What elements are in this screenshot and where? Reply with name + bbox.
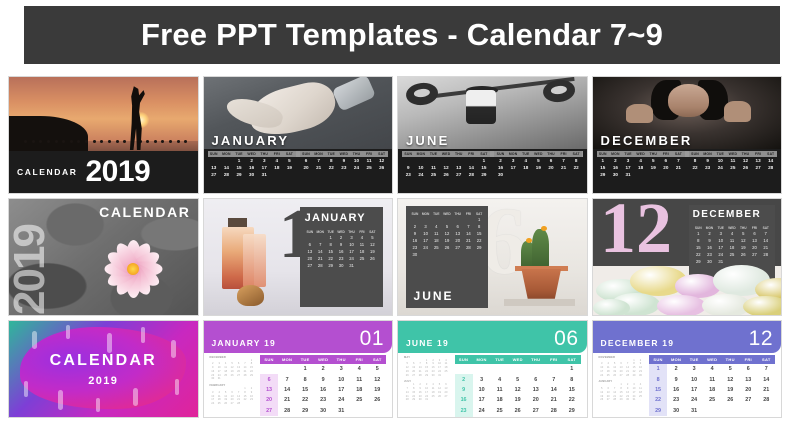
day-cell: 6 xyxy=(527,374,545,384)
day-cell: 4 xyxy=(491,374,509,384)
day-cell: 20 xyxy=(305,255,315,262)
day-cell: 13 xyxy=(739,374,757,384)
dual-day-grid: 12345131415161718192728293031 6789101112… xyxy=(208,157,389,179)
dow-cell: WED xyxy=(509,355,527,364)
day-cell: 8 xyxy=(296,374,314,384)
day-cell: 31 xyxy=(685,405,703,415)
ref-day-cell: 25 xyxy=(637,395,643,399)
day-cell: 4 xyxy=(519,157,532,164)
day-cell: 7 xyxy=(760,230,771,237)
day-cell: 21 xyxy=(545,395,563,405)
day-cell: 7 xyxy=(557,157,570,164)
day-cell: 9 xyxy=(704,237,715,244)
day-cell: 17 xyxy=(685,385,703,395)
template-card-december-portrait[interactable]: DECEMBER SUNMONTUEWEDTHUFRISAT SUNMONTUE… xyxy=(592,76,783,194)
day-cell-empty xyxy=(442,216,453,223)
day-cell: 11 xyxy=(431,230,442,237)
dow-cell: TUE xyxy=(296,355,314,364)
day-cell: 8 xyxy=(570,157,583,164)
dow-cell: WED xyxy=(314,355,332,364)
day-cell: 4 xyxy=(271,157,284,164)
day-cell: 3 xyxy=(473,374,491,384)
day-cell: 7 xyxy=(757,364,775,374)
day-cell: 23 xyxy=(701,164,714,171)
day-cell: 30 xyxy=(314,405,332,415)
day-cell: 17 xyxy=(473,395,491,405)
header-banner: Free PPT Templates - Calendar 7~9 xyxy=(24,6,780,64)
reference-months: DECEMBER12345678910111213141516171819202… xyxy=(210,356,255,409)
day-cell: 7 xyxy=(315,241,325,248)
dow-cell: THU xyxy=(332,355,350,364)
day-cell: 31 xyxy=(346,262,356,269)
day-cell: 6 xyxy=(260,374,278,384)
day-cell: 18 xyxy=(431,237,442,244)
day-cell: 3 xyxy=(420,223,431,230)
year-label: 2019 xyxy=(9,375,198,387)
day-cell: 24 xyxy=(685,395,703,405)
day-cell-empty xyxy=(463,216,474,223)
day-cell: 8 xyxy=(649,374,667,384)
day-cell: 15 xyxy=(563,385,581,395)
day-cell: 14 xyxy=(760,237,771,244)
athlete-body xyxy=(466,90,496,125)
day-cell: 5 xyxy=(442,223,453,230)
dow-cell: TUE xyxy=(685,355,703,364)
day-cell: 17 xyxy=(346,248,356,255)
ref-day-cell: 30 xyxy=(637,374,643,378)
day-cell: 4 xyxy=(350,364,368,374)
page-root: Free PPT Templates - Calendar 7~9 CALEND… xyxy=(0,0,786,423)
day-cell: 18 xyxy=(519,164,532,171)
day-cell: 7 xyxy=(545,374,563,384)
day-cell: 9 xyxy=(410,230,421,237)
pier-posts xyxy=(24,140,190,144)
dow-row: SUNMONTUEWEDTHUFRISAT xyxy=(455,355,581,364)
day-cell: 27 xyxy=(452,171,465,178)
day-cell: 30 xyxy=(336,262,346,269)
day-cell-empty xyxy=(410,216,421,223)
day-cell: 24 xyxy=(415,171,428,178)
day-cell: 12 xyxy=(739,157,752,164)
day-cell: 10 xyxy=(685,374,703,384)
day-cell: 3 xyxy=(346,234,356,241)
hand-left xyxy=(626,104,652,123)
day-cell: 14 xyxy=(545,385,563,395)
day-cell: 15 xyxy=(478,164,491,171)
calendar-panel: SUNMONTUEWEDTHUFRISAT 123456789101112131… xyxy=(406,206,489,308)
day-cell: 31 xyxy=(258,171,271,178)
day-cell: 18 xyxy=(726,244,737,251)
band-title: DECEMBER 19 xyxy=(601,338,675,348)
days-grid-right: 23456781617181920212230 xyxy=(494,157,582,179)
dow-cell: MON xyxy=(473,355,491,364)
day-cell: 20 xyxy=(739,385,757,395)
day-cell: 26 xyxy=(442,244,453,251)
template-card-january-19[interactable]: JANUARY 19 01 DECEMBER123456789101112131… xyxy=(203,320,394,418)
day-cell: 11 xyxy=(491,385,509,395)
day-cell-empty xyxy=(305,234,315,241)
day-cell: 16 xyxy=(336,248,346,255)
month-band: JANUARY 19 01 xyxy=(204,321,393,353)
day-cell: 16 xyxy=(245,164,258,171)
day-cell: 8 xyxy=(474,223,485,230)
day-cell: 30 xyxy=(410,251,421,258)
day-cell: 5 xyxy=(367,234,377,241)
days-grid: 1234567891011121314151617181920212223242… xyxy=(693,230,772,265)
day-cell: 6 xyxy=(452,223,463,230)
day-cell: 28 xyxy=(757,395,775,405)
day-cell: 19 xyxy=(367,248,377,255)
template-card-june-gym[interactable]: JUNE SUNMONTUEWEDTHUFRISAT SUNMONTUEWEDT… xyxy=(397,76,588,194)
template-card-january-perfume[interactable]: 1 JANUARY SUNMONTUEWEDTHUFRISAT 12345678… xyxy=(203,198,394,316)
perfume-bottle-2 xyxy=(243,234,266,287)
day-cell-empty xyxy=(545,364,563,374)
day-cell: 19 xyxy=(442,237,453,244)
day-cell: 6 xyxy=(545,157,558,164)
lotus-flower xyxy=(84,238,182,298)
day-cell: 9 xyxy=(338,157,351,164)
days-grid-left: 12345131415161718192728293031 xyxy=(208,157,296,179)
day-cell: 25 xyxy=(350,395,368,405)
day-cell: 14 xyxy=(315,248,325,255)
day-cell: 21 xyxy=(312,164,325,171)
days-grid-left: 123456715161718192021293031 xyxy=(597,157,685,179)
band-title: JANUARY 19 xyxy=(212,338,276,348)
template-card-lotus-2019[interactable]: 2019 CALENDAR xyxy=(8,198,199,316)
day-cell: 17 xyxy=(507,164,520,171)
template-card-december-eggs[interactable]: 12 DECEMBER SUNMONTUEWEDTHUFRISAT 123456… xyxy=(592,198,783,316)
calendar-label: CALENDAR xyxy=(17,167,78,177)
ref-day-cell: 27 xyxy=(443,395,449,399)
template-thumbnail-grid: CALENDAR 2019 JANUARY SUNMONTUEWEDTHUFRI… xyxy=(8,76,782,418)
day-cell: 23 xyxy=(336,255,346,262)
day-cell: 22 xyxy=(649,395,667,405)
day-cell-empty xyxy=(440,157,453,164)
ref-day-cell: 29 xyxy=(248,374,254,378)
calendar-panel: JANUARY SUNMONTUEWEDTHUFRISAT 1234567891… xyxy=(300,207,383,307)
day-cell: 15 xyxy=(233,164,246,171)
reference-days-grid: 1234567891011121314151617181920212223242… xyxy=(404,383,449,402)
day-cell: 27 xyxy=(752,164,765,171)
day-cell: 19 xyxy=(721,385,739,395)
day-cell: 24 xyxy=(714,164,727,171)
day-cell: 1 xyxy=(474,216,485,223)
day-cell: 28 xyxy=(220,171,233,178)
day-cell: 5 xyxy=(368,364,386,374)
day-cell: 26 xyxy=(509,405,527,415)
month-band: JUNE 19 06 xyxy=(398,321,587,353)
day-cell: 10 xyxy=(350,157,363,164)
day-cell-empty xyxy=(452,216,463,223)
reference-months: NOVEMBER12345678910111213141516171819202… xyxy=(599,356,644,406)
day-cell: 29 xyxy=(597,171,610,178)
day-cell: 13 xyxy=(260,385,278,395)
day-cell: 2 xyxy=(455,374,473,384)
day-cell: 18 xyxy=(271,164,284,171)
calendar-label: CALENDAR xyxy=(99,204,190,220)
ref-day-cell: 23 xyxy=(248,398,254,402)
template-card-june-19[interactable]: JUNE 19 06 MAY12345678910111213141516171… xyxy=(397,320,588,418)
day-cell-empty xyxy=(260,364,278,374)
day-cell: 6 xyxy=(300,157,313,164)
day-cell: 2 xyxy=(245,157,258,164)
day-cell: 11 xyxy=(350,374,368,384)
day-cell: 23 xyxy=(314,395,332,405)
cactus-body xyxy=(532,229,549,268)
day-cell: 2 xyxy=(609,157,622,164)
day-cell: 14 xyxy=(278,385,296,395)
day-cell: 20 xyxy=(260,395,278,405)
day-cell: 25 xyxy=(357,255,367,262)
day-cell: 2 xyxy=(667,364,685,374)
day-cell: 21 xyxy=(278,395,296,405)
day-cell: 27 xyxy=(305,262,315,269)
day-cell: 9 xyxy=(667,374,685,384)
day-cell: 27 xyxy=(739,395,757,405)
day-cell: 17 xyxy=(622,164,635,171)
day-cell: 21 xyxy=(760,244,771,251)
day-cell: 20 xyxy=(452,237,463,244)
month-label: JANUARY xyxy=(212,133,290,148)
day-cell: 1 xyxy=(563,364,581,374)
template-card-gradient-2019[interactable]: CALENDAR 2019 xyxy=(8,320,199,418)
day-cell: 17 xyxy=(332,385,350,395)
day-cell: 28 xyxy=(545,405,563,415)
template-card-january-sneakers[interactable]: JANUARY SUNMONTUEWEDTHUFRISAT SUNMONTUEW… xyxy=(203,76,394,194)
dual-day-grid: 1910111213141523242526272829 23456781617… xyxy=(402,157,583,179)
dow-cell: FRI xyxy=(739,355,757,364)
day-cell: 26 xyxy=(440,171,453,178)
reference-month: NOVEMBER12345678910111213141516171819202… xyxy=(599,356,644,378)
day-cell: 1 xyxy=(597,157,610,164)
day-cell: 2 xyxy=(704,230,715,237)
day-cell: 16 xyxy=(314,385,332,395)
ref-day-cell: 31 xyxy=(423,398,429,402)
dow-cell: SAT xyxy=(368,355,386,364)
calendar-strip: SUNMONTUEWEDTHUFRISAT SUNMONTUEWEDTHUFRI… xyxy=(204,149,393,193)
day-cell: 16 xyxy=(410,237,421,244)
day-cell-empty xyxy=(402,157,415,164)
sock-shape xyxy=(332,76,376,112)
day-cell-empty xyxy=(220,157,233,164)
day-cell: 29 xyxy=(649,405,667,415)
day-cell: 25 xyxy=(726,251,737,258)
reference-month: FEBRUARY12345678910111213141516171819202… xyxy=(210,384,255,406)
day-cell-empty xyxy=(452,157,465,164)
card-caption-band: CALENDAR 2019 xyxy=(9,151,198,193)
ref-day-cell: 31 xyxy=(631,398,637,402)
day-cell: 29 xyxy=(478,171,491,178)
dow-row: SUNMONTUEWEDTHUFRISAT xyxy=(649,355,775,364)
day-cell: 6 xyxy=(739,364,757,374)
day-cell: 24 xyxy=(420,244,431,251)
day-cell: 13 xyxy=(752,157,765,164)
days-grid-right: 89101112131422232425262728 xyxy=(689,157,777,171)
day-cell: 21 xyxy=(757,385,775,395)
day-cell: 4 xyxy=(431,223,442,230)
day-cell: 10 xyxy=(346,241,356,248)
days-grid: 1234567891011121314151617181920212223242… xyxy=(305,234,378,269)
day-cell: 17 xyxy=(715,244,726,251)
day-cell: 22 xyxy=(563,395,581,405)
dow-row: SUNMONTUEWEDTHUFRISAT xyxy=(260,355,386,364)
day-cell: 21 xyxy=(463,237,474,244)
template-card-sunset-2019[interactable]: CALENDAR 2019 xyxy=(8,76,199,194)
dual-day-grid: 123456715161718192021293031 891011121314… xyxy=(597,157,778,179)
day-cell: 25 xyxy=(491,405,509,415)
day-cell: 3 xyxy=(622,157,635,164)
day-cell: 27 xyxy=(527,405,545,415)
month-label: JUNE xyxy=(414,289,454,303)
day-cell-empty xyxy=(491,364,509,374)
day-cell: 18 xyxy=(634,164,647,171)
day-cell: 16 xyxy=(494,164,507,171)
day-cell: 13 xyxy=(452,164,465,171)
day-cell: 22 xyxy=(325,164,338,171)
day-cell: 7 xyxy=(312,157,325,164)
day-cell: 9 xyxy=(314,374,332,384)
day-cell: 22 xyxy=(570,164,583,171)
day-cell: 29 xyxy=(474,244,485,251)
face-shape xyxy=(668,84,709,117)
band-title: JUNE 19 xyxy=(406,338,449,348)
day-cell: 16 xyxy=(704,244,715,251)
dow-cell: SUN xyxy=(649,355,667,364)
day-cell: 14 xyxy=(757,374,775,384)
day-cell: 22 xyxy=(325,255,335,262)
day-cell: 3 xyxy=(685,364,703,374)
day-cell: 27 xyxy=(208,171,221,178)
day-cell: 30 xyxy=(667,405,685,415)
day-cell: 15 xyxy=(474,230,485,237)
main-calendar: SUNMONTUEWEDTHUFRISAT 123456789101112131… xyxy=(649,355,775,416)
day-cell: 18 xyxy=(703,385,721,395)
reference-days-grid: 1234567891011121314151617181920212223242… xyxy=(599,359,644,378)
day-cell: 15 xyxy=(649,385,667,395)
day-cell: 20 xyxy=(300,164,313,171)
day-cell: 23 xyxy=(338,164,351,171)
day-cell-empty xyxy=(278,364,296,374)
days-grid-right: 678910111220212223242526 xyxy=(300,157,388,171)
day-cell: 8 xyxy=(325,157,338,164)
days-grid: 1234567891011121314151617181920212223242… xyxy=(410,216,485,258)
day-cell: 12 xyxy=(442,230,453,237)
month-label: DECEMBER xyxy=(693,209,772,220)
day-cell: 15 xyxy=(325,248,335,255)
day-cell: 28 xyxy=(760,251,771,258)
day-cell: 10 xyxy=(415,164,428,171)
day-cell: 5 xyxy=(738,230,749,237)
dow-cell: MON xyxy=(667,355,685,364)
day-cell: 11 xyxy=(703,374,721,384)
day-cell: 1 xyxy=(325,234,335,241)
day-cell: 23 xyxy=(704,251,715,258)
day-cell: 21 xyxy=(557,164,570,171)
month-label: DECEMBER xyxy=(601,133,693,148)
day-cell: 25 xyxy=(431,244,442,251)
dow-cell: WED xyxy=(703,355,721,364)
day-cell: 20 xyxy=(527,395,545,405)
day-cell: 24 xyxy=(350,164,363,171)
day-cell-empty xyxy=(208,157,221,164)
day-cell: 1 xyxy=(478,157,491,164)
day-cell: 13 xyxy=(208,164,221,171)
day-cell: 30 xyxy=(609,171,622,178)
day-cell: 16 xyxy=(609,164,622,171)
candy-eggs xyxy=(593,262,782,315)
day-cell: 10 xyxy=(473,385,491,395)
reference-month: DECEMBER12345678910111213141516171819202… xyxy=(210,356,255,382)
day-cell: 27 xyxy=(260,405,278,415)
day-cell: 15 xyxy=(296,385,314,395)
day-cell: 23 xyxy=(455,405,473,415)
day-cell: 7 xyxy=(672,157,685,164)
day-cell: 19 xyxy=(509,395,527,405)
dow-cell: TUE xyxy=(491,355,509,364)
day-cell: 18 xyxy=(350,385,368,395)
template-card-december-19[interactable]: DECEMBER 19 12 NOVEMBER12345678910111213… xyxy=(592,320,783,418)
day-cell: 8 xyxy=(693,237,704,244)
band-number: 06 xyxy=(554,330,578,348)
day-cell: 8 xyxy=(325,241,335,248)
day-cell: 4 xyxy=(357,234,367,241)
day-cell: 23 xyxy=(667,395,685,405)
day-cell: 12 xyxy=(440,164,453,171)
band-number: 01 xyxy=(360,330,384,348)
dow-cell: FRI xyxy=(545,355,563,364)
dow-cell: SAT xyxy=(757,355,775,364)
ref-day-cell: 25 xyxy=(443,370,449,374)
band-number: 12 xyxy=(749,330,773,348)
day-cell: 3 xyxy=(507,157,520,164)
day-cell: 3 xyxy=(258,157,271,164)
days-grid: 1234567891011121314151617181920212223242… xyxy=(260,364,386,416)
main-calendar: SUNMONTUEWEDTHUFRISAT 123456789101112131… xyxy=(455,355,581,418)
day-cell: 12 xyxy=(367,241,377,248)
day-cell: 12 xyxy=(375,157,388,164)
day-cell: 15 xyxy=(693,244,704,251)
day-cell: 26 xyxy=(375,164,388,171)
template-card-june-cactus[interactable]: 6 SUNMONTUEWEDTHUFRISAT 1234567891011121… xyxy=(397,198,588,316)
month-label: JUNE xyxy=(406,133,449,148)
day-cell: 14 xyxy=(764,157,777,164)
day-cell: 19 xyxy=(283,164,296,171)
day-cell-empty xyxy=(427,157,440,164)
calendar-strip: SUNMONTUEWEDTHUFRISAT SUNMONTUEWEDTHUFRI… xyxy=(593,149,782,193)
day-cell: 6 xyxy=(660,157,673,164)
cactus-flower-2 xyxy=(526,238,532,243)
day-cell-empty xyxy=(465,157,478,164)
day-cell: 2 xyxy=(410,223,421,230)
day-cell: 5 xyxy=(509,374,527,384)
day-cell: 28 xyxy=(764,164,777,171)
day-cell: 29 xyxy=(563,405,581,415)
day-cell: 1 xyxy=(233,157,246,164)
day-cell: 4 xyxy=(726,230,737,237)
day-cell: 24 xyxy=(715,251,726,258)
day-cell: 20 xyxy=(660,164,673,171)
day-cell: 24 xyxy=(473,405,491,415)
month-band: DECEMBER 19 12 xyxy=(593,321,782,353)
day-cell: 16 xyxy=(667,385,685,395)
reference-month: MAY1234567891011121314151617181920212223… xyxy=(404,356,449,378)
day-cell: 28 xyxy=(463,244,474,251)
day-cell: 4 xyxy=(634,157,647,164)
day-cell: 27 xyxy=(749,251,760,258)
dow-cell: SUN xyxy=(455,355,473,364)
day-cell: 19 xyxy=(738,244,749,251)
reference-months: MAY1234567891011121314151617181920212223… xyxy=(404,356,449,406)
